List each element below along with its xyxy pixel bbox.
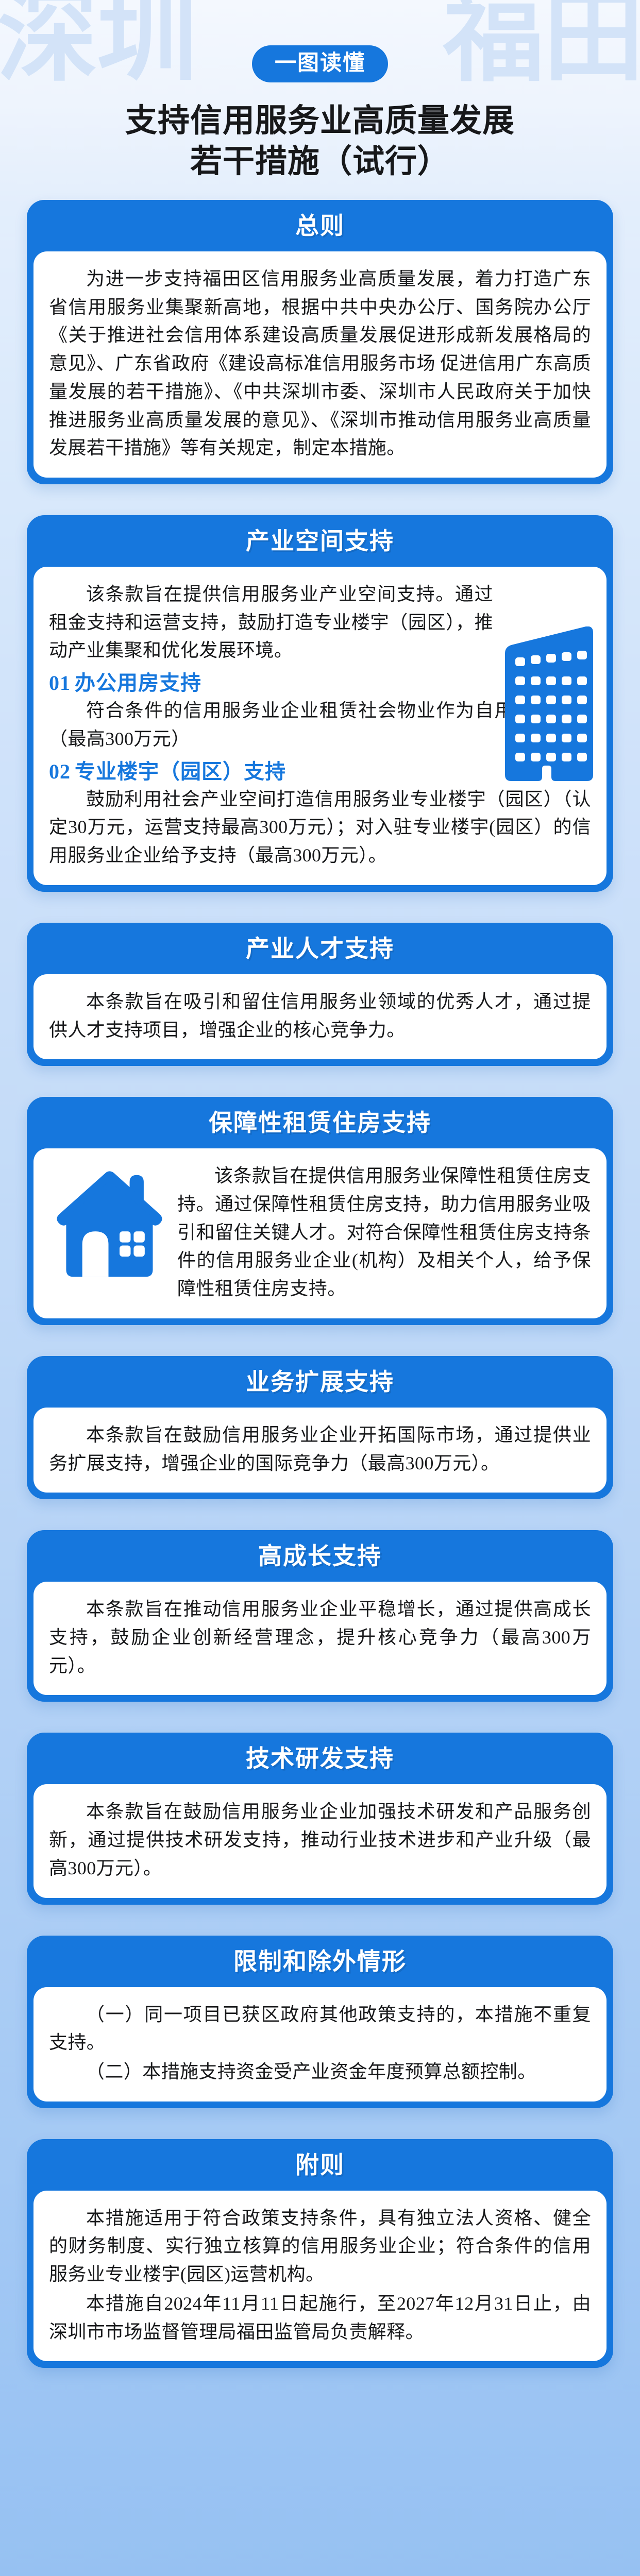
card-paragraph: 本措施适用于符合政策支持条件，具有独立法人资格、健全的财务制度、实行独立核算的信…	[49, 2204, 591, 2289]
badge-container: 一图读懂	[0, 45, 640, 82]
card-paragraph: 本条款旨在鼓励信用服务业企业开拓国际市场，通过提供业务扩展支持，增强企业的国际竞…	[49, 1421, 591, 1477]
card-body: 本措施适用于符合政策支持条件，具有独立法人资格、健全的财务制度、实行独立核算的信…	[33, 2191, 607, 2362]
read-in-one-picture-badge: 一图读懂	[252, 45, 388, 82]
card-general-provisions: 总则 为进一步支持福田区信用服务业高质量发展，着力打造广东省信用服务业集聚新高地…	[27, 200, 613, 484]
card-paragraph: 本条款旨在吸引和留住信用服务业领域的优秀人才，通过提供人才支持项目，增强企业的核…	[49, 988, 591, 1044]
card-title: 高成长支持	[27, 1530, 613, 1582]
card-body: 本条款旨在鼓励信用服务业企业加强技术研发和产品服务创新，通过提供技术研发支持，推…	[33, 1784, 607, 1897]
card-rd-support: 技术研发支持 本条款旨在鼓励信用服务业企业加强技术研发和产品服务创新，通过提供技…	[27, 1733, 613, 1904]
card-title: 总则	[27, 200, 613, 251]
card-body: （一）同一项目已获区政府其他政策支持的，本措施不重复支持。 （二）本措施支持资金…	[33, 1987, 607, 2102]
card-title: 保障性租赁住房支持	[27, 1097, 613, 1148]
card-paragraph: （一）同一项目已获区政府其他政策支持的，本措施不重复支持。	[49, 2001, 591, 2057]
sub-item-02-number: 02	[49, 760, 71, 783]
card-body: 本条款旨在推动信用服务业企业平稳增长，通过提供高成长支持，鼓励企业创新经营理念，…	[33, 1582, 607, 1695]
infographic-page: 深圳 福田 一图读懂 支持信用服务业高质量发展 若干措施（试行） 总则 为进一步…	[0, 0, 640, 2576]
card-supplementary-provisions: 附则 本措施适用于符合政策支持条件，具有独立法人资格、健全的财务制度、实行独立核…	[27, 2139, 613, 2368]
house-icon	[53, 1169, 164, 1280]
section-card-list: 总则 为进一步支持福田区信用服务业高质量发展，着力打造广东省信用服务业集聚新高地…	[0, 200, 640, 2368]
card-title: 产业人才支持	[27, 923, 613, 974]
building-icon	[505, 626, 595, 781]
card-body: 本条款旨在鼓励信用服务业企业开拓国际市场，通过提供业务扩展支持，增强企业的国际竞…	[33, 1408, 607, 1493]
card-restrictions-and-exclusions: 限制和除外情形 （一）同一项目已获区政府其他政策支持的，本措施不重复支持。 （二…	[27, 1936, 613, 2108]
card-body: 本条款旨在吸引和留住信用服务业领域的优秀人才，通过提供人才支持项目，增强企业的核…	[33, 974, 607, 1059]
card-body: 该条款旨在提供信用服务业保障性租赁住房支持。通过保障性租赁住房支持，助力信用服务…	[33, 1148, 607, 1318]
card-industry-talent-support: 产业人才支持 本条款旨在吸引和留住信用服务业领域的优秀人才，通过提供人才支持项目…	[27, 923, 613, 1066]
sub-item-02-text: 鼓励利用社会产业空间打造信用服务业专业楼宇（园区）（认定30万元，运营支持最高3…	[49, 785, 591, 870]
card-affordable-rental-housing-support: 保障性租赁住房支持 该条款旨在提供信用	[27, 1097, 613, 1325]
card-industry-space-support: 产业空间支持	[27, 515, 613, 892]
card-title: 技术研发支持	[27, 1733, 613, 1784]
page-title: 支持信用服务业高质量发展 若干措施（试行）	[0, 101, 640, 183]
card-paragraph: （二）本措施支持资金受产业资金年度预算总额控制。	[49, 2058, 591, 2086]
card-paragraph: 本条款旨在鼓励信用服务业企业加强技术研发和产品服务创新，通过提供技术研发支持，推…	[49, 1798, 591, 1882]
sub-item-02-label: 专业楼宇（园区）支持	[75, 760, 286, 783]
card-body: 为进一步支持福田区信用服务业高质量发展，着力打造广东省信用服务业集聚新高地，根据…	[33, 251, 607, 478]
card-body: 该条款旨在提供信用服务业产业空间支持。通过租金支持和运营支持，鼓励打造专业楼宇（…	[33, 567, 607, 885]
page-title-line-2: 若干措施（试行）	[0, 142, 640, 182]
sub-item-01-number: 01	[49, 671, 71, 694]
card-paragraph: 为进一步支持福田区信用服务业高质量发展，着力打造广东省信用服务业集聚新高地，根据…	[49, 265, 591, 462]
page-title-line-1: 支持信用服务业高质量发展	[125, 104, 515, 139]
card-paragraph: 本条款旨在推动信用服务业企业平稳增长，通过提供高成长支持，鼓励企业创新经营理念，…	[49, 1595, 591, 1680]
card-title: 附则	[27, 2139, 613, 2191]
sub-item-01-label: 办公用房支持	[75, 671, 201, 694]
card-high-growth-support: 高成长支持 本条款旨在推动信用服务业企业平稳增长，通过提供高成长支持，鼓励企业创…	[27, 1530, 613, 1702]
card-title: 业务扩展支持	[27, 1356, 613, 1408]
card-title: 限制和除外情形	[27, 1936, 613, 1987]
card-business-expansion-support: 业务扩展支持 本条款旨在鼓励信用服务业企业开拓国际市场，通过提供业务扩展支持，增…	[27, 1356, 613, 1499]
card-paragraph: 本措施自2024年11月11日起施行，至2027年12月31日止，由深圳市市场监…	[49, 2290, 591, 2346]
card-title: 产业空间支持	[27, 515, 613, 567]
page-header: 深圳 福田 一图读懂 支持信用服务业高质量发展 若干措施（试行）	[0, 0, 640, 200]
